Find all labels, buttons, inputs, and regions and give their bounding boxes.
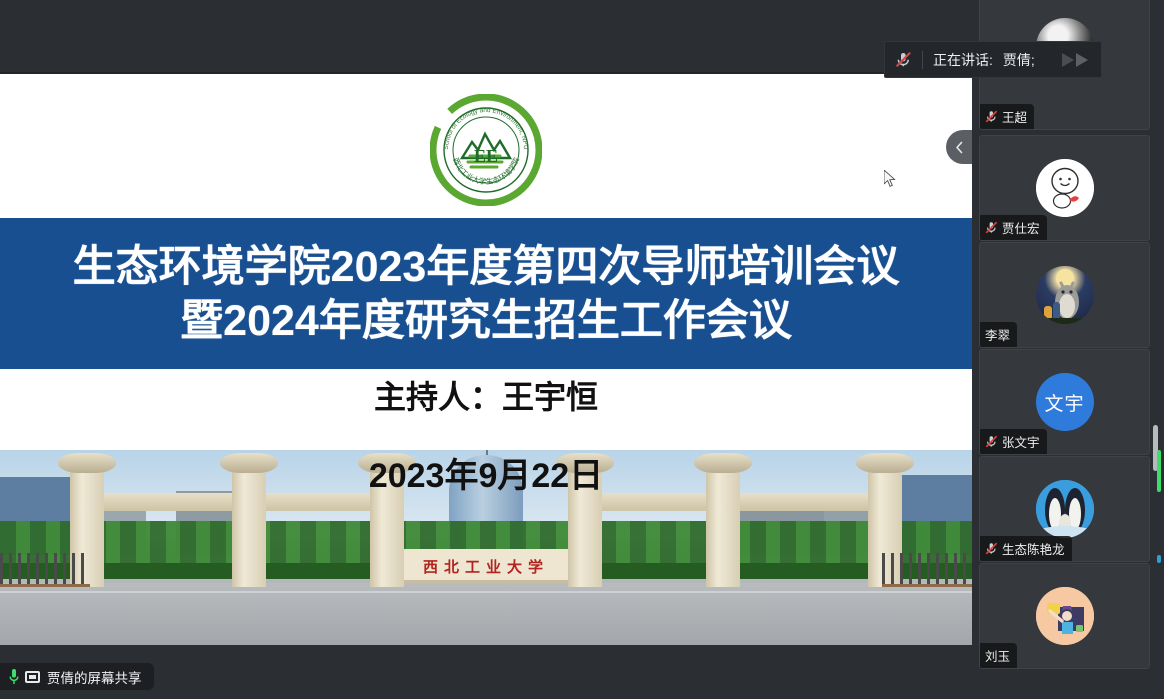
scrollbar-activity-marker bbox=[1157, 450, 1161, 492]
photo-fence bbox=[0, 553, 90, 587]
double-chevron-right-icon[interactable] bbox=[1053, 49, 1097, 71]
slide-logo-area: School of Ecology and Environment, NPU 西… bbox=[0, 86, 972, 214]
share-top-strip bbox=[0, 0, 972, 74]
participant-tile[interactable]: 李翠 bbox=[979, 242, 1150, 348]
screen-share-icon bbox=[25, 671, 40, 683]
participant-name: 刘玉 bbox=[985, 646, 1010, 665]
avatar: 文宇 bbox=[1036, 373, 1094, 431]
participant-name-badge: 李翠 bbox=[980, 322, 1017, 347]
participant-name-badge: 贾仕宏 bbox=[980, 215, 1047, 240]
mic-muted-icon bbox=[985, 221, 998, 234]
screen-share-viewport[interactable]: School of Ecology and Environment, NPU 西… bbox=[0, 74, 972, 645]
participant-tile[interactable]: 生态陈艳龙 bbox=[979, 456, 1150, 562]
mic-on-icon bbox=[9, 668, 18, 686]
avatar-initials: 文宇 bbox=[1036, 373, 1094, 431]
participant-rail-scrollbar[interactable] bbox=[1156, 0, 1161, 699]
slide-title-line-1: 生态环境学院2023年度第四次导师培训会议 bbox=[73, 240, 900, 294]
avatar-image bbox=[1036, 159, 1094, 217]
participant-name: 贾仕宏 bbox=[1002, 218, 1040, 237]
mic-muted-icon bbox=[985, 542, 998, 555]
participant-tile[interactable]: 贾仕宏 bbox=[979, 135, 1150, 241]
screen-share-owner-text: 贾倩的屏幕共享 bbox=[47, 667, 142, 687]
chevron-left-icon[interactable] bbox=[946, 130, 972, 164]
mic-muted-icon bbox=[985, 435, 998, 448]
avatar bbox=[1036, 266, 1094, 324]
avatar bbox=[1036, 480, 1094, 538]
avatar-image bbox=[1036, 480, 1094, 538]
scrollbar-position-marker bbox=[1157, 555, 1161, 563]
slide-date-text: 2023年9月22日 bbox=[0, 448, 972, 497]
participant-name: 生态陈艳龙 bbox=[1002, 539, 1065, 558]
active-speaker-prefix: 正在讲话: bbox=[933, 50, 993, 70]
participant-name: 王超 bbox=[1002, 107, 1027, 126]
meeting-window: School of Ecology and Environment, NPU 西… bbox=[0, 0, 1164, 699]
svg-text:EE: EE bbox=[474, 146, 498, 166]
participant-name: 李翠 bbox=[985, 325, 1010, 344]
avatar-image bbox=[1036, 266, 1094, 324]
active-speaker-banner: 正在讲话: 贾倩; bbox=[884, 41, 1102, 78]
slide-title-band: 生态环境学院2023年度第四次导师培训会议 暨2024年度研究生招生工作会议 bbox=[0, 218, 972, 369]
slide-host-text: 主持人：王宇恒 bbox=[0, 372, 972, 418]
mic-muted-icon bbox=[895, 51, 912, 68]
participant-tile[interactable]: 文宇 张文宇 bbox=[979, 349, 1150, 455]
banner-divider bbox=[922, 51, 923, 69]
school-of-ecology-environment-logo: School of Ecology and Environment, NPU 西… bbox=[430, 94, 542, 206]
avatar bbox=[1036, 159, 1094, 217]
participant-rail[interactable]: 王超 bbox=[972, 0, 1164, 699]
avatar bbox=[1036, 587, 1094, 645]
participant-name-badge: 刘玉 bbox=[980, 643, 1017, 668]
photo-plaza bbox=[0, 583, 972, 645]
mic-muted-icon bbox=[985, 110, 998, 123]
slide-title-line-2: 暨2024年度研究生招生工作会议 bbox=[180, 294, 792, 348]
screen-share-owner-label: 贾倩的屏幕共享 bbox=[0, 663, 154, 690]
participant-name-badge: 张文宇 bbox=[980, 429, 1047, 454]
mouse-cursor-icon bbox=[884, 170, 896, 188]
avatar-image bbox=[1036, 587, 1094, 645]
participant-name: 张文宇 bbox=[1002, 432, 1040, 451]
photo-fence bbox=[882, 553, 972, 587]
participant-tile[interactable]: 刘玉 bbox=[979, 563, 1150, 669]
presentation-slide: School of Ecology and Environment, NPU 西… bbox=[0, 74, 972, 645]
active-speaker-name: 贾倩; bbox=[1003, 50, 1035, 70]
participant-name-badge: 王超 bbox=[980, 104, 1034, 129]
participant-name-badge: 生态陈艳龙 bbox=[980, 536, 1072, 561]
